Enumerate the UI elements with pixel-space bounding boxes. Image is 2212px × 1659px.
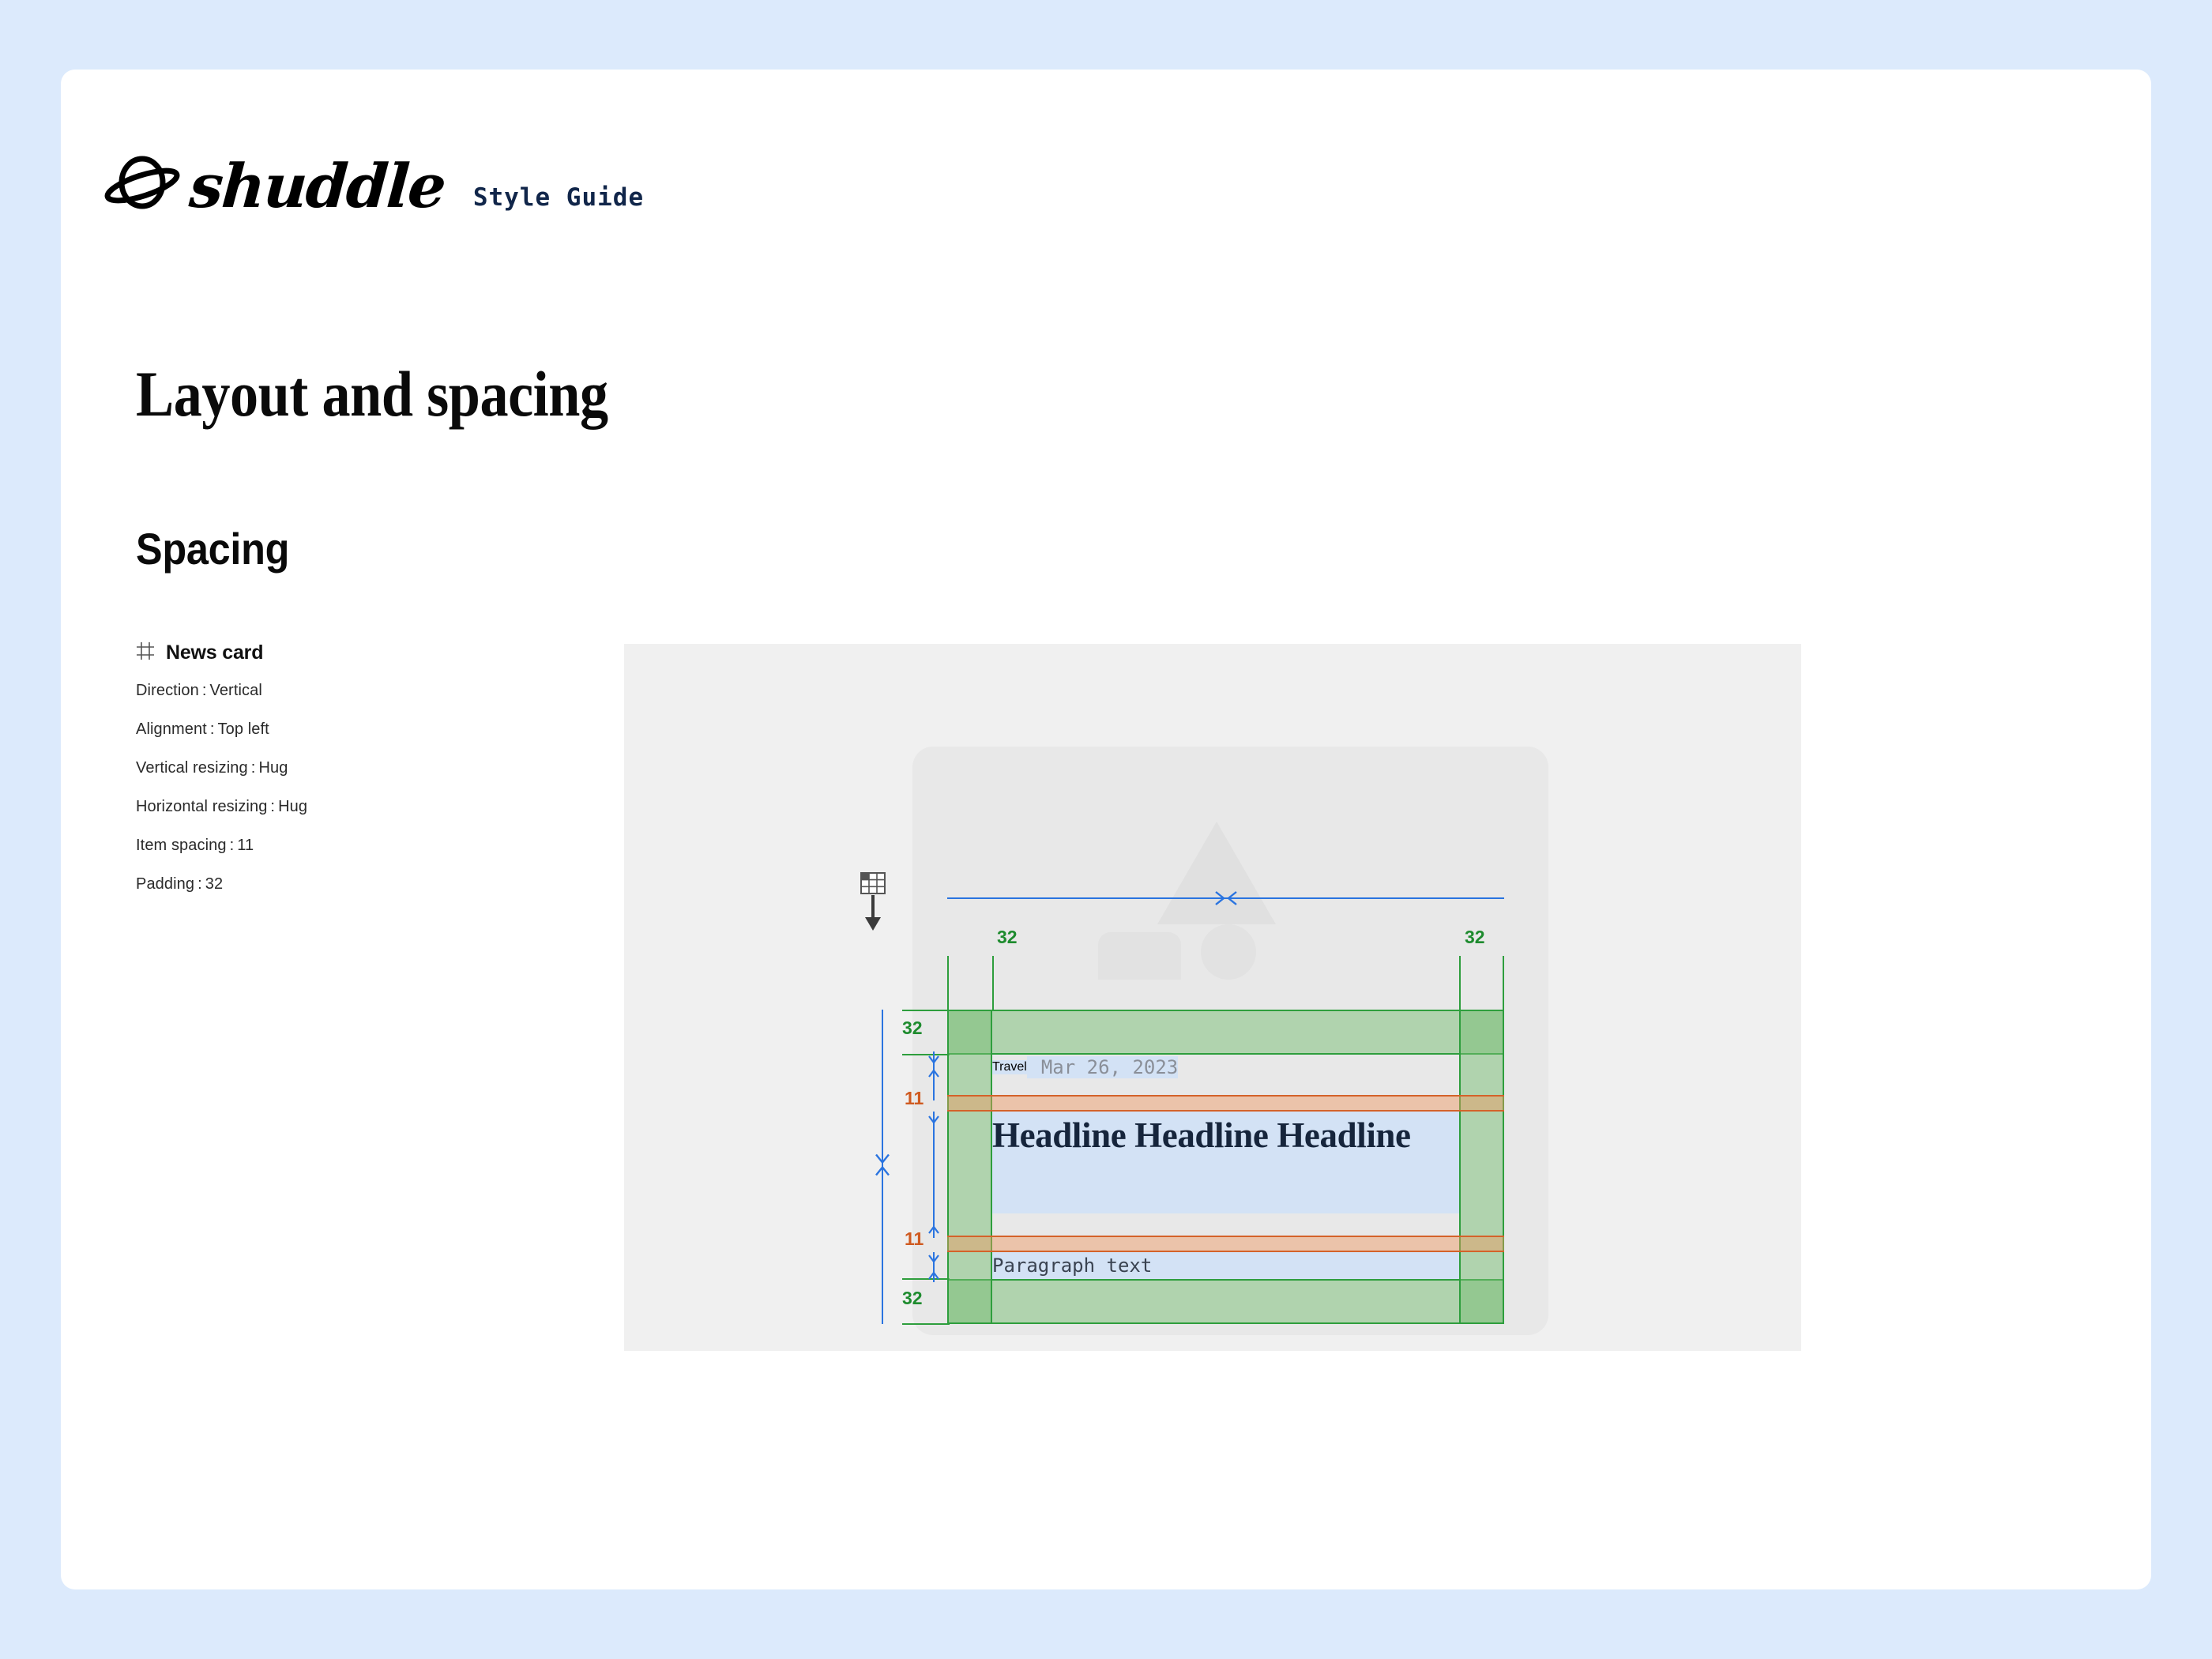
spec-sep: : [194, 875, 205, 893]
card-date: Mar 26, 2023 [1027, 1056, 1178, 1078]
style-guide-label: Style Guide [473, 183, 644, 220]
padding-guide-right [1459, 956, 1461, 1011]
padding-label-right: 32 [1465, 927, 1485, 948]
page-root: shuddle Style Guide Layout and spacing S… [0, 0, 2212, 1659]
padding-guide-bottom-extend [902, 1323, 950, 1325]
spec-key: Alignment [136, 720, 207, 738]
spec-row-padding: Padding:32 [136, 875, 578, 893]
padding-overlay-right [1459, 1010, 1504, 1324]
section-title: Spacing [136, 523, 289, 574]
padding-overlay-bottom [947, 1279, 1504, 1324]
spec-panel-header: News card [136, 641, 578, 664]
card-headline-block: Headline Headline Headline [992, 1112, 1459, 1213]
grid-down-arrow-icon [857, 871, 893, 937]
spec-row-vertical-resizing: Vertical resizing:Hug [136, 759, 578, 777]
spec-key: Vertical resizing [136, 759, 248, 777]
gap-arrow-3 [926, 1252, 942, 1286]
brand-header: shuddle Style Guide [103, 154, 644, 220]
padding-label-top: 32 [902, 1018, 923, 1039]
brand-wordmark: shuddle [188, 160, 447, 213]
card-headline: Headline Headline Headline [992, 1112, 1459, 1159]
spec-row-item-spacing: Item spacing:11 [136, 837, 578, 855]
page-title: Layout and spacing [136, 357, 608, 431]
spec-value: Hug [258, 759, 288, 777]
news-card-content: Travel Mar 26, 2023 Headline Headline He… [992, 1055, 1459, 1279]
card-meta-row: Travel Mar 26, 2023 [992, 1055, 1178, 1079]
spec-row-direction: Direction:Vertical [136, 682, 578, 700]
card-paragraph: Paragraph text [992, 1252, 1459, 1279]
spec-row-horizontal-resizing: Horizontal resizing:Hug [136, 798, 578, 816]
spec-panel: News card Direction:Vertical Alignment:T… [136, 641, 578, 893]
padding-guide-left [992, 956, 994, 1011]
spec-sep: : [227, 837, 238, 854]
spec-sep: : [267, 798, 278, 815]
spacing-diagram: 32 32 32 32 11 11 Travel Mar 26, 2023 He… [624, 644, 1801, 1351]
gap-arrow-2 [926, 1112, 942, 1242]
spec-key: Direction [136, 682, 199, 699]
gap-arrow-1 [926, 1051, 942, 1104]
horizontal-hug-indicator [947, 889, 1504, 908]
gap-label-1: 11 [905, 1088, 924, 1109]
ghost-shape-a [1098, 932, 1181, 980]
padding-overlay-top [947, 1010, 1504, 1055]
gap-label-2: 11 [905, 1228, 924, 1250]
spec-value: Vertical [210, 682, 262, 699]
vertical-hug-indicator [873, 1010, 892, 1324]
padding-label-bottom: 32 [902, 1288, 923, 1309]
padding-guide-top-extend [902, 1010, 950, 1011]
auto-layout-frame-icon [136, 641, 155, 664]
logo-lockup: shuddle [103, 154, 445, 220]
spec-sep: : [248, 759, 259, 777]
planet-icon [103, 154, 182, 220]
spec-key: Horizontal resizing [136, 798, 267, 815]
padding-guide-right-outer [1503, 956, 1504, 1011]
hug-arrows-horizontal [1213, 889, 1240, 912]
spec-row-alignment: Alignment:Top left [136, 720, 578, 739]
padding-overlay-left [947, 1010, 992, 1324]
spec-value: 32 [205, 875, 223, 893]
spec-key: Item spacing [136, 837, 227, 854]
spec-value: Hug [278, 798, 307, 815]
card-category: Travel [992, 1060, 1027, 1074]
spec-value: 11 [237, 837, 254, 854]
card-paragraph-block: Paragraph text [992, 1252, 1459, 1279]
spec-panel-title: News card [166, 641, 263, 664]
spec-key: Padding [136, 875, 194, 893]
spec-sep: : [207, 720, 218, 738]
padding-guide-left-outer [947, 956, 949, 1011]
hug-arrows-vertical [873, 1152, 892, 1183]
spec-sep: : [199, 682, 210, 699]
ghost-shape-b [1201, 924, 1256, 980]
padding-label-left: 32 [997, 927, 1018, 948]
spec-value: Top left [218, 720, 269, 738]
